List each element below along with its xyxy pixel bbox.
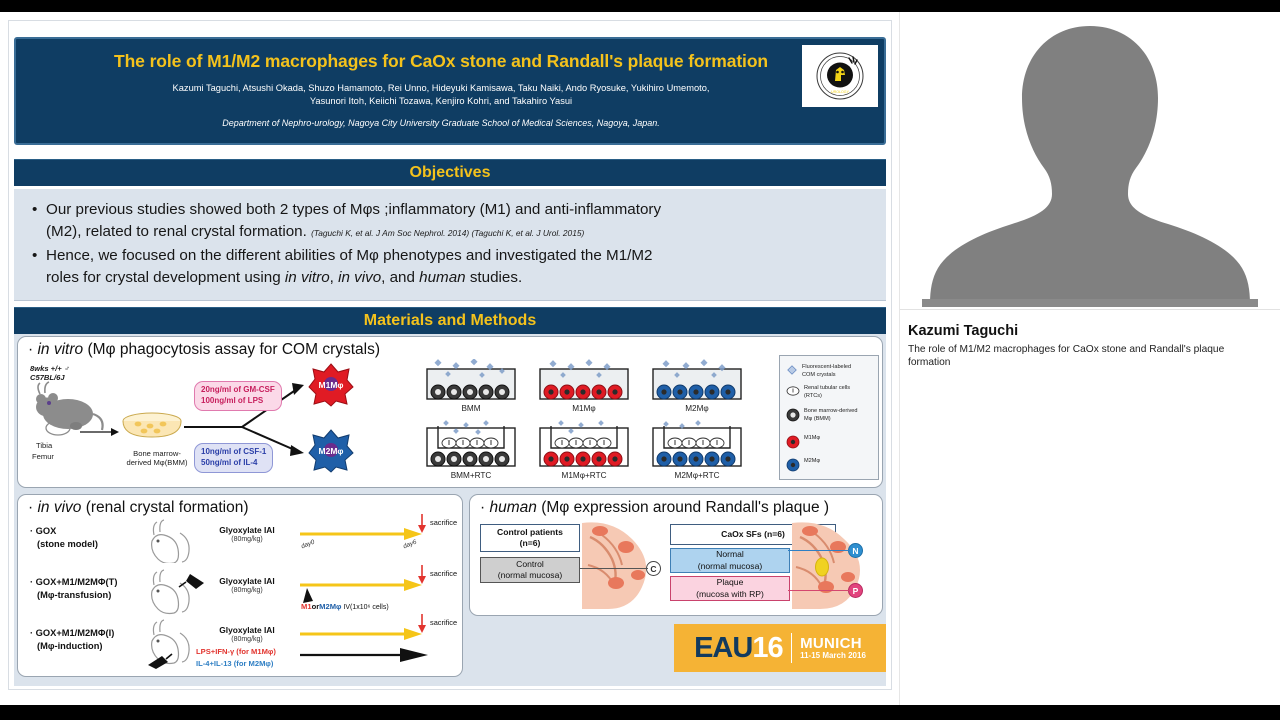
timeline-arrow-2-icon [300,574,424,594]
in-vitro-title-rest: (Mφ phagocytosis assay for COM crystals) [87,341,380,358]
eau-dates: 11-15 March 2016 [800,652,866,660]
m2-chip-line-2: 50ng/ml of IL-4 [201,458,257,467]
in-vivo-row-3-name: · GOX+M1/M2MΦ(I) (Mφ-induction) [30,627,114,654]
in-vitro-title-em: in vitro [37,341,83,358]
speaker-avatar [900,12,1280,307]
speaker-name: Kazumi Taguchi [908,323,1272,339]
row-3-name-line-2: (Mφ-induction) [37,640,103,653]
well-m1-rtc: M1Mφ+RTC [537,420,631,475]
legend-item-crystal: Fluorescent-labeled COM crystals [786,364,851,379]
row-1-name-line-1: · GOX [30,526,56,536]
m2-macrophage-icon: M2Mφ [308,429,354,473]
row-1-name-line-2: (stone model) [37,538,98,551]
control-mucosa-box: Control (normal mucosa) [480,557,580,583]
in-vitro-legend: Fluorescent-labeled COM crystals Renal t… [779,355,879,480]
author-line-1: Kazumi Taguchi, Atsushi Okada, Shuzo Ham… [71,82,811,95]
objective-2-mid1: , [330,269,338,286]
legend-item-rtc: Renal tubular cells (RTCs) [786,385,850,400]
info-divider [900,309,1280,310]
objective-bullet-1: • Our previous studies showed both 2 typ… [32,199,880,242]
plaque-mucosa-box: Plaque (mucosa with RP) [670,576,790,601]
row-2-name-line-2: (Mφ-transfusion) [37,589,111,602]
induction-arrow-icon [300,647,430,663]
well-caption: M1Mφ [537,404,631,413]
control-leader-line [580,567,648,570]
objective-2-pre: roles for crystal development using [46,269,285,286]
talk-title: The role of M1/M2 macrophages for CaOx s… [908,343,1256,370]
petri-dish-icon [120,409,184,447]
eau-city: MUNICH [800,636,866,652]
row-3-name-line-1: · GOX+M1/M2MΦ(I) [30,628,114,638]
well-caption: M2Mφ [650,404,744,413]
pin-control: C [646,561,661,576]
row-2-note-m2: M2Mφ [319,602,341,611]
timeline-arrow-3-icon [300,623,424,643]
poster-title-block: The role of M1/M2 macrophages for CaOx s… [14,37,886,145]
author-list: Kazumi Taguchi, Atsushi Okada, Shuzo Ham… [71,82,811,108]
materials-heading: Materials and Methods [364,312,536,330]
eau-year: 16 [752,632,782,664]
methods-area: · in vitro (Mφ phagocytosis assay for CO… [14,334,886,686]
in-vivo-title-rest: (renal crystal formation) [86,499,249,516]
crystal-icon [786,364,798,376]
arrow-to-dish-icon [80,425,120,439]
in-vivo-row-3-note-m1: LPS+IFN-γ (for M1Mφ) [196,647,276,656]
in-vitro-title: · in vitro (Mφ phagocytosis assay for CO… [28,341,380,359]
legend-m1-label: M1Mφ [804,435,820,443]
legend-rtc-line-1: Renal tubular cells [804,385,850,391]
row-2-note-tail: IV(1x10⁶ cells) [341,604,388,611]
speaker-info-pane: Kazumi Taguchi The role of M1/M2 macroph… [900,12,1280,705]
caox-papilla-illustration [788,521,874,609]
seal-text: UROLOGY [831,90,850,94]
well-m2-rtc: M2Mφ+RTC [650,420,744,475]
normal-mucosa-box: Normal (normal mucosa) [670,548,790,573]
legend-bmm-line-1: Bone marrow-derived [804,408,857,414]
human-title: · human (Mφ expression around Randall's … [480,499,829,517]
legend-item-m2: M2Mφ [786,458,820,472]
in-vitro-bullet: · [28,341,33,358]
well-caption: M2Mφ+RTC [650,471,744,480]
control-patients-box: Control patients (n=6) [480,524,580,552]
m1-icon [786,435,800,449]
section-header-materials: Materials and Methods [14,307,886,334]
sacrifice-arrow-3-icon [417,614,427,634]
objective-2-post: studies. [466,269,523,286]
in-vivo-row-2-drug: Glyoxylate IAI [208,576,286,586]
m2-chip-line-1: 10ng/ml of CSF-1 [201,447,266,456]
well-bmm-rtc: BMM+RTC [424,420,518,475]
control-box-line-2: (normal mucosa) [498,570,562,581]
normal-line-1: Normal [716,549,744,560]
author-line-2: Yasunori Itoh, Keiichi Tozawa, Kenjiro K… [71,95,811,108]
section-header-objectives: Objectives [14,159,886,186]
normal-leader-line [788,549,850,552]
m1-stimulus-chip: 20ng/ml of GM-CSF 100ng/ml of LPS [194,381,282,411]
human-bullet: · [480,499,485,516]
page-title: The role of M1/M2 macrophages for CaOx s… [56,51,826,72]
in-vivo-row-2-sacrifice: sacrifice [430,569,457,578]
slide-pane: The role of M1/M2 macrophages for CaOx s… [0,12,900,705]
rtc-icon [786,385,800,397]
in-vivo-title: · in vivo (renal crystal formation) [28,499,249,517]
well-caption: M1Mφ+RTC [537,471,631,480]
in-vivo-bullet: · [28,499,33,516]
femur-label: Femur [32,452,54,461]
letterbox-bottom [0,705,1280,720]
objectives-panel: • Our previous studies showed both 2 typ… [14,189,886,301]
mouse-outline-icon [146,519,200,563]
in-vivo-row-1-dose: (80mg/kg) [208,536,286,543]
objective-1-line-2: (M2), related to renal crystal formation… [46,223,307,240]
bmm-label-line-2: derived Mφ(BMM) [126,458,187,467]
sacrifice-arrow-1-icon [417,514,427,534]
well-bmm: BMM [424,359,518,408]
legend-item-m1: M1Mφ [786,435,820,449]
m1-blob-label: M1Mφ [319,380,344,390]
control-title-line-1: Control patients [497,527,563,538]
well-caption: BMM [424,404,518,413]
in-vivo-row-2-dose: (80mg/kg) [208,587,286,594]
mouse-strain-line-1: 8wks +/+ ♂ [30,364,69,373]
objective-bullet-2: • Hence, we focused on the different abi… [32,245,880,288]
pin-normal: N [848,543,863,558]
legend-rtc-line-2: (RTCs) [804,393,822,399]
eau-brand-text: EAU [694,632,752,664]
in-vivo-row-1-sacrifice: sacrifice [430,518,457,527]
legend-crystal-line-2: COM crystals [802,372,836,378]
control-title-line-2: (n=6) [520,538,541,549]
poster-slide: The role of M1/M2 macrophages for CaOx s… [8,20,892,690]
well-m1: M1Mφ [537,359,631,408]
video-player-frame: The role of M1/M2 macrophages for CaOx s… [0,0,1280,720]
objective-citations: (Taguchi K, et al. J Am Soc Nephrol. 201… [311,228,584,238]
legend-m2-label: M2Mφ [804,458,820,466]
legend-bmm-line-2: Mφ (BMM) [804,416,831,422]
in-vivo-title-em: in vivo [37,499,81,516]
objective-2-mid2: , and [381,269,419,286]
human-title-em: human [489,499,536,516]
bmm-icon [786,408,800,422]
legend-item-bmm: Bone marrow-derived Mφ (BMM) [786,408,857,423]
in-vivo-row-3-note-m2: IL-4+IL-13 (for M2Mφ) [196,659,273,668]
plaque-line-2: (mucosa with RP) [696,589,764,600]
human-title-rest: (Mφ expression around Randall's plaque ) [541,499,829,516]
in-vivo-row-1-name: · GOX (stone model) [30,525,98,552]
plaque-line-1: Plaque [717,577,744,588]
in-vivo-row-2-note: M1orM2Mφ IV(1x10⁶ cells) [301,602,389,611]
m1-macrophage-icon: M1Mφ [308,363,354,407]
human-card: · human (Mφ expression around Randall's … [469,494,883,616]
eau-separator [791,633,793,663]
in-vitro-card: · in vitro (Mφ phagocytosis assay for CO… [17,336,883,488]
objectives-heading: Objectives [410,164,491,182]
normal-line-2: (normal mucosa) [698,561,762,572]
institution-seal-logo: UROLOGY [802,45,878,107]
person-placeholder-icon [900,14,1280,307]
m2-icon [786,458,800,472]
row-2-note-m1: M1 [301,602,312,611]
objective-2-em-invitro: in vitro [285,269,330,286]
bullet-dot: • [32,199,46,242]
objectives-list: • Our previous studies showed both 2 typ… [32,199,880,291]
letterbox-top [0,0,1280,12]
in-vivo-row-2-name: · GOX+M1/M2MΦ(T) (Mφ-transfusion) [30,576,117,603]
control-box-line-1: Control [516,559,544,570]
bmm-label-line-1: Bone marrow- [133,449,181,458]
in-vivo-row-1-drug: Glyoxylate IAI [208,525,286,535]
in-vivo-row-3-drug: Glyoxylate IAI [208,625,286,635]
objective-1-line-1: Our previous studies showed both 2 types… [46,201,661,218]
pin-plaque: P [848,583,863,598]
objective-2-em-invivo: in vivo [338,269,381,286]
m1-chip-line-1: 20ng/ml of GM-CSF [201,385,275,394]
affiliation: Department of Nephro-urology, Nagoya Cit… [71,118,811,128]
timeline-arrow-1-icon [300,523,424,543]
objective-2-line-1: Hence, we focused on the different abili… [46,247,652,264]
well-caption: BMM+RTC [424,471,518,480]
eau-brand: EAU16 [694,632,783,665]
row-2-name-line-1: · GOX+M1/M2MΦ(T) [30,577,117,587]
m1-chip-line-2: 100ng/ml of LPS [201,396,263,405]
legend-crystal-line-1: Fluorescent-labeled [802,364,851,370]
eau-congress-logo: EAU16 MUNICH 11-15 March 2016 [674,624,886,672]
plaque-leader-line [788,589,850,592]
objective-2-em-human: human [419,269,465,286]
well-m2: M2Mφ [650,359,744,408]
in-vivo-row-3-dose: (80mg/kg) [208,636,286,643]
bullet-dot: • [32,245,46,288]
m2-stimulus-chip: 10ng/ml of CSF-1 50ng/ml of IL-4 [194,443,273,473]
in-vivo-card: · in vivo (renal crystal formation) · GO… [17,494,463,677]
m2-blob-label: M2Mφ [319,446,344,456]
mouse-injection-icon [146,569,214,615]
tibia-label: Tibia [36,441,52,450]
in-vivo-row-3-sacrifice: sacrifice [430,618,457,627]
sacrifice-arrow-2-icon [417,565,427,585]
